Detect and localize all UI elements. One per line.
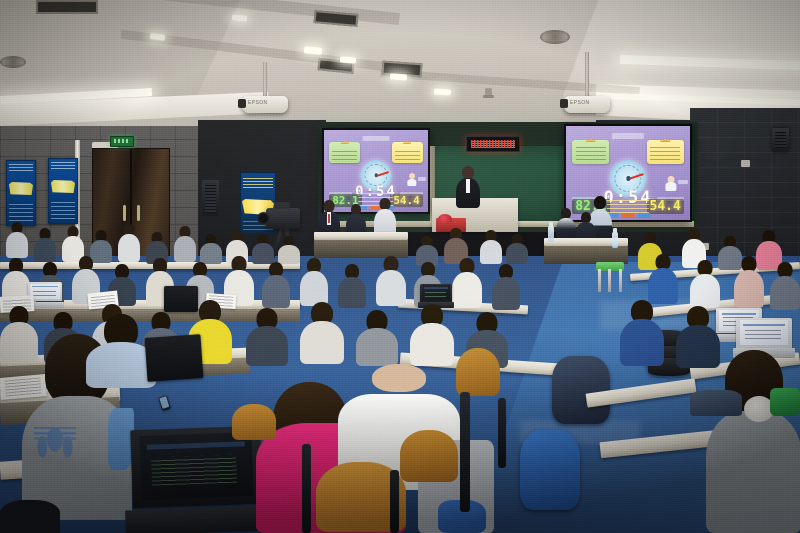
ceiling-downlight <box>434 89 451 96</box>
crown-icon <box>586 138 596 142</box>
dial-needle-icon <box>628 174 643 181</box>
chair-back <box>400 430 458 482</box>
chair-leg <box>460 392 470 512</box>
exit-sign-text-glyphs <box>114 139 130 143</box>
team-name-text <box>332 148 357 160</box>
flower-arrangement <box>438 214 452 224</box>
audience-member-blue <box>648 254 678 304</box>
door-handle-left[interactable] <box>123 205 126 221</box>
door-handle-right[interactable] <box>137 205 140 221</box>
wall-socket-plate <box>741 160 750 167</box>
laptop-lid <box>736 318 792 348</box>
camera-viewfinder-icon <box>274 202 290 209</box>
screen-button-next <box>637 213 650 218</box>
head <box>372 364 426 392</box>
current-speaker-tag <box>418 177 426 181</box>
chair-back <box>456 348 500 396</box>
team-card-affirmative <box>572 140 609 164</box>
body <box>480 240 502 264</box>
debater-right-teammate-1 <box>556 208 576 242</box>
screen-title-bar <box>612 133 644 140</box>
body <box>690 274 720 308</box>
poster-header-text <box>9 164 33 171</box>
moderator-shirt <box>466 179 470 193</box>
ceiling-round-diffuser <box>540 30 570 44</box>
moderator <box>456 166 480 208</box>
team-name-text <box>650 147 680 161</box>
screen-title-bar <box>362 136 389 142</box>
screen-title-line <box>32 286 58 287</box>
audience-member <box>118 224 140 262</box>
body <box>620 319 664 366</box>
stool-leg <box>608 269 611 292</box>
body <box>200 243 222 264</box>
audience-member <box>376 256 406 306</box>
audience-member <box>200 234 222 264</box>
body <box>706 411 800 533</box>
ceiling-downlight <box>390 73 407 80</box>
backpack <box>552 356 610 424</box>
body <box>506 243 528 264</box>
laptop-foreground[interactable] <box>130 426 264 533</box>
body <box>770 276 800 310</box>
ceiling-air-grille <box>36 0 98 14</box>
screen-body-lines <box>151 454 237 485</box>
audience-member <box>506 234 528 264</box>
body <box>118 234 140 262</box>
body <box>356 328 398 366</box>
screen-caption-text <box>607 197 649 214</box>
screen-body-lines <box>33 289 55 296</box>
poster-body-text <box>51 199 75 219</box>
poster-headline-text <box>9 182 33 195</box>
sprinkler-icon <box>485 88 492 98</box>
chair-leg <box>498 398 506 468</box>
poster-body-text <box>9 201 33 221</box>
stool-leg <box>598 269 601 292</box>
event-poster-1 <box>6 160 36 226</box>
screen-title-line <box>743 324 785 326</box>
avatar-body <box>407 179 416 186</box>
projector-lens-icon <box>238 99 246 108</box>
crown-icon <box>660 138 670 142</box>
body <box>252 243 274 264</box>
projector-left: EPSON <box>242 96 288 113</box>
team-card-affirmative <box>329 142 360 163</box>
cap-or-bag <box>690 390 742 416</box>
audience-member <box>262 262 290 308</box>
debater-tie <box>328 214 330 223</box>
body <box>376 270 406 306</box>
scrolling-led-sign <box>466 136 520 152</box>
dial-hub-icon <box>626 176 630 180</box>
projection-screen-right: 0:54 82.1 54.4 <box>564 124 692 222</box>
screen-title-line <box>147 441 246 450</box>
dial-needle-icon <box>376 171 389 177</box>
current-speaker-avatar <box>665 176 676 191</box>
body <box>648 268 678 304</box>
body <box>246 326 288 366</box>
laptop-screen <box>740 320 788 344</box>
audience-member <box>252 234 274 264</box>
body <box>34 238 56 262</box>
led-sign-text <box>471 140 515 148</box>
screen-body-lines <box>425 290 446 296</box>
laptop-lid <box>420 284 452 302</box>
camera-lens-icon <box>257 212 270 225</box>
body <box>6 232 28 258</box>
audience-member <box>174 226 196 262</box>
body <box>734 270 764 308</box>
audience-member <box>452 258 482 308</box>
ceiling-downlight <box>304 46 323 55</box>
current-speaker-tag <box>678 180 688 185</box>
projector-mount-pole <box>585 52 589 96</box>
audience-member <box>356 310 398 366</box>
surface-tablet[interactable] <box>145 334 204 382</box>
current-speaker-avatar <box>407 173 416 185</box>
water-bottle <box>548 226 554 242</box>
projector-lens-icon <box>560 99 568 108</box>
screen-title-line <box>424 287 448 288</box>
projector-brand-label: EPSON <box>248 100 268 106</box>
audience-member <box>246 308 288 366</box>
ceiling-round-diffuser <box>0 56 26 68</box>
body <box>300 271 328 306</box>
water-bottle <box>612 232 618 248</box>
screen-body-lines <box>745 329 782 340</box>
team-card-negative <box>647 140 684 164</box>
green-stool <box>596 262 624 292</box>
chair-leg <box>302 444 311 533</box>
audience-member <box>6 222 28 258</box>
ceiling-downlight <box>340 56 356 63</box>
laptop-screen <box>30 284 59 300</box>
lecture-hall-photo: EPSON EPSON <box>0 0 800 533</box>
adidas-trefoil-logo-icon <box>34 426 76 478</box>
event-poster-2 <box>48 158 78 224</box>
chair-back <box>232 404 276 440</box>
audience-member <box>480 230 502 264</box>
body <box>262 275 290 308</box>
team-name-text <box>576 147 606 161</box>
body <box>410 323 454 366</box>
team-name-text <box>395 148 420 160</box>
audience-member-blue-near <box>620 300 664 366</box>
body <box>300 321 344 364</box>
backpack <box>520 430 580 510</box>
poster-headline-text <box>51 180 75 193</box>
screen-button-action <box>622 213 635 218</box>
debate-table-left <box>314 232 408 240</box>
body <box>492 277 520 310</box>
student-laptop-right <box>706 350 800 533</box>
stool-leg <box>619 269 622 292</box>
audience-member <box>770 262 800 310</box>
audience-member <box>34 228 56 262</box>
crown-icon <box>341 141 349 144</box>
audience-member <box>410 304 454 366</box>
debater-head <box>594 196 606 209</box>
chair-leg <box>390 470 399 533</box>
green-folder <box>770 388 800 416</box>
audience-member <box>690 260 720 308</box>
screen-title-line <box>722 313 757 315</box>
pa-speaker-tower <box>202 180 219 216</box>
avatar-body <box>665 182 676 190</box>
audience-member <box>300 302 344 364</box>
video-camera <box>266 208 300 229</box>
audience-member <box>0 500 60 533</box>
audience-member <box>300 258 328 306</box>
audience-member <box>278 236 300 264</box>
body <box>174 236 196 262</box>
projector-mount-pole <box>263 62 267 96</box>
audience-member <box>734 256 764 308</box>
body <box>452 272 482 308</box>
laptop-screen <box>140 432 254 500</box>
wall-speaker <box>772 128 789 152</box>
projector-right: EPSON <box>564 96 610 113</box>
crown-icon <box>403 141 411 144</box>
score-negative: 54.4 <box>647 199 684 214</box>
projector-brand-label: EPSON <box>570 100 590 106</box>
laptop-keyboard-base[interactable] <box>125 505 271 533</box>
team-card-negative <box>392 142 423 163</box>
body <box>0 500 60 533</box>
screen-button-row <box>606 213 651 218</box>
audience-member <box>492 264 520 310</box>
exit-sign <box>110 136 134 147</box>
poster-header-text <box>51 162 75 169</box>
banner-header-text <box>243 177 273 188</box>
laptop-screen <box>422 285 450 300</box>
